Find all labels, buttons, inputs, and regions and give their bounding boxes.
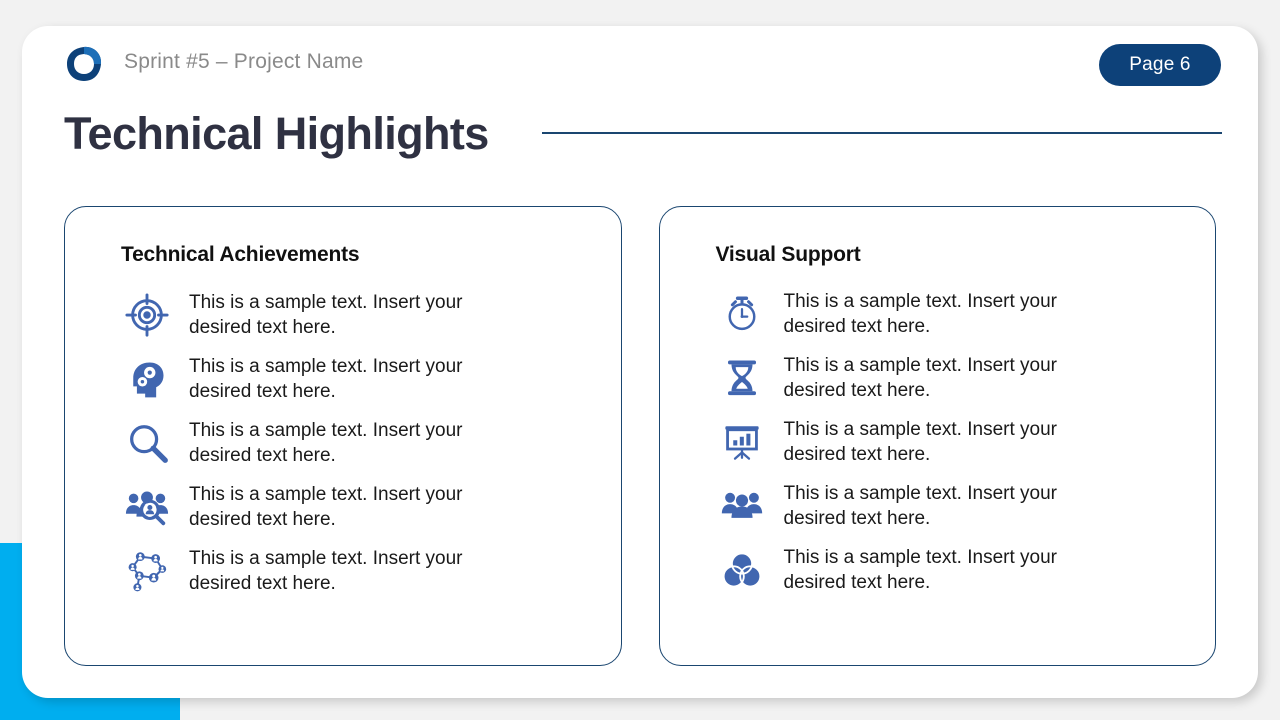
slide-root: Sprint #5 – Project Name Page 6 Technica… (0, 0, 1280, 720)
card-technical-achievements: Technical Achievements (64, 206, 622, 666)
bullet-list: This is a sample text. Insert your desir… (716, 288, 1190, 596)
page-badge[interactable]: Page 6 (1099, 44, 1221, 86)
user-research-icon (121, 481, 173, 533)
list-item-text: This is a sample text. Insert your desir… (189, 418, 509, 468)
list-item[interactable]: This is a sample text. Insert your desir… (121, 417, 595, 469)
stopwatch-icon (716, 288, 768, 340)
list-item-text: This is a sample text. Insert your desir… (189, 546, 509, 596)
list-item[interactable]: This is a sample text. Insert your desir… (121, 545, 595, 597)
list-item-text: This is a sample text. Insert your desir… (189, 482, 509, 532)
target-icon (121, 289, 173, 341)
list-item-text: This is a sample text. Insert your desir… (784, 353, 1114, 403)
list-item[interactable]: This is a sample text. Insert your desir… (121, 481, 595, 533)
cards-row: Technical Achievements (22, 206, 1258, 666)
card-visual-support: Visual Support (659, 206, 1217, 666)
list-item[interactable]: This is a sample text. Insert your desir… (121, 289, 595, 341)
list-item[interactable]: This is a sample text. Insert your desir… (716, 416, 1190, 468)
hourglass-icon (716, 352, 768, 404)
magnifier-icon (121, 417, 173, 469)
list-item[interactable]: This is a sample text. Insert your desir… (121, 353, 595, 405)
card-title: Visual Support (716, 243, 1190, 267)
list-item-text: This is a sample text. Insert your desir… (189, 354, 509, 404)
list-item-text: This is a sample text. Insert your desir… (784, 545, 1114, 595)
header-eyebrow: Sprint #5 – Project Name (124, 50, 363, 74)
list-item[interactable]: This is a sample text. Insert your desir… (716, 352, 1190, 404)
presentation-chart-icon (716, 416, 768, 468)
list-item[interactable]: This is a sample text. Insert your desir… (716, 288, 1190, 340)
title-divider (542, 132, 1222, 134)
people-network-icon (121, 545, 173, 597)
list-item[interactable]: This is a sample text. Insert your desir… (716, 480, 1190, 532)
people-group-icon (716, 480, 768, 532)
card-title: Technical Achievements (121, 243, 595, 267)
bullet-list: This is a sample text. Insert your desir… (121, 289, 595, 597)
list-item-text: This is a sample text. Insert your desir… (784, 417, 1114, 467)
list-item-text: This is a sample text. Insert your desir… (189, 290, 509, 340)
head-gears-icon (121, 353, 173, 405)
list-item-text: This is a sample text. Insert your desir… (784, 289, 1114, 339)
venn-diagram-icon (716, 544, 768, 596)
page-title: Technical Highlights (64, 108, 489, 160)
slide-panel: Sprint #5 – Project Name Page 6 Technica… (22, 26, 1258, 698)
list-item[interactable]: This is a sample text. Insert your desir… (716, 544, 1190, 596)
list-item-text: This is a sample text. Insert your desir… (784, 481, 1114, 531)
ring-logo-icon (64, 44, 104, 84)
